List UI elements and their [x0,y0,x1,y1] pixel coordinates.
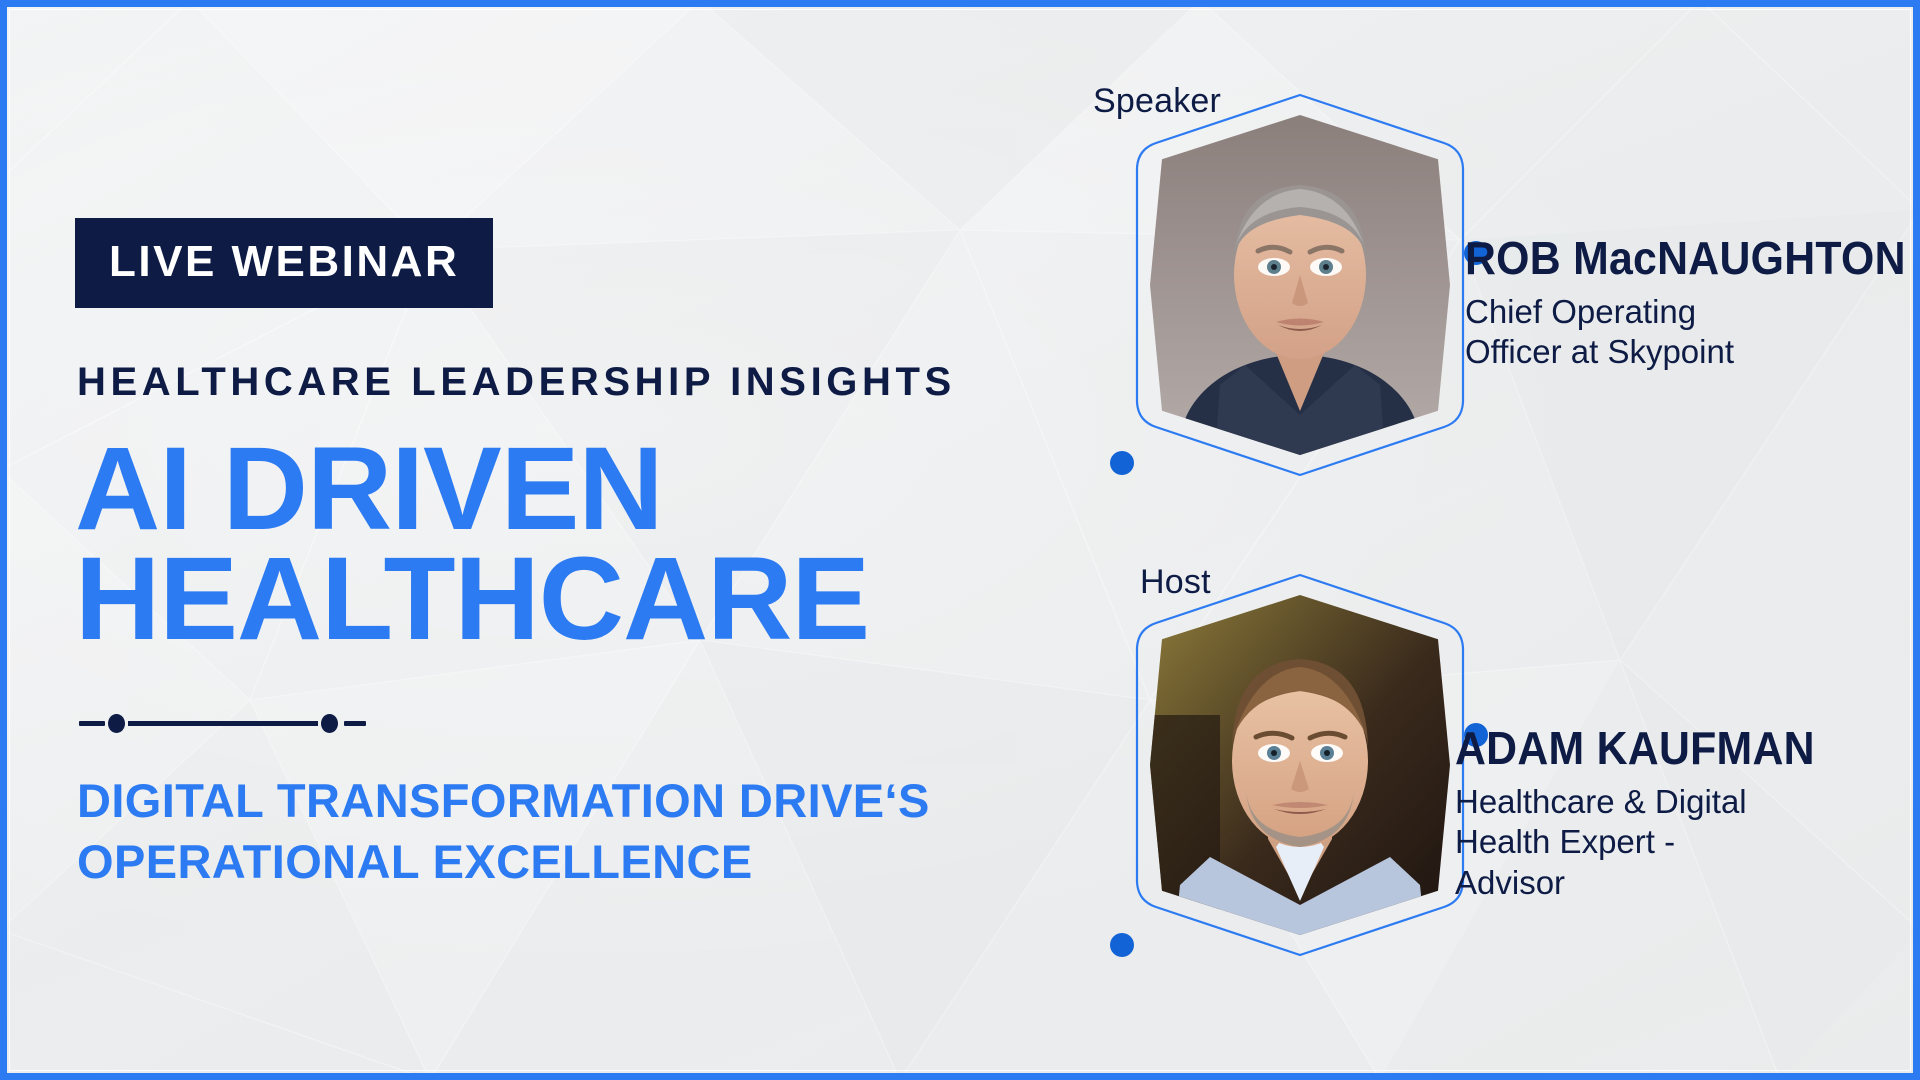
host-title-line-2: Health Expert - [1455,822,1895,862]
left-content-column: LIVE WEBINAR HEALTHCARE LEADERSHIP INSIG… [75,0,935,1080]
speaker-card: Speaker [1040,60,1920,510]
accent-dot-host-bottom [1110,933,1134,957]
tagline-line-1: DIGITAL TRANSFORMATION DRIVE‘S [77,774,930,827]
avatar [1150,595,1450,935]
speaker-title-line-2: Officer at Skypoint [1465,332,1885,372]
divider-dash-right [344,721,366,726]
speaker-title: Chief Operating Officer at Skypoint [1465,292,1885,373]
subtitle: DIGITAL TRANSFORMATION DRIVE‘S OPERATION… [77,770,930,892]
host-card: Host [1040,545,1920,1025]
page-title: AI DRIVEN HEALTHCARE [75,435,869,654]
divider-line [128,721,318,726]
host-photo-hexagon [1150,595,1450,935]
headshot-rob-macnaughton [1150,115,1450,455]
host-title: Healthcare & Digital Health Expert - Adv… [1455,782,1895,903]
avatar [1150,115,1450,455]
headshot-adam-kaufman [1150,595,1450,935]
right-speakers-column: Speaker [1040,0,1920,1080]
decorative-divider [79,712,419,734]
speaker-info: ROB MacNAUGHTON Chief Operating Officer … [1465,235,1885,373]
host-info: ADAM KAUFMAN Healthcare & Digital Health… [1455,725,1895,903]
series-eyebrow: HEALTHCARE LEADERSHIP INSIGHTS [77,360,956,405]
tagline-line-2: OPERATIONAL EXCELLENCE [77,831,930,892]
speaker-title-line-1: Chief Operating [1465,292,1885,332]
host-title-line-3: Advisor [1455,863,1895,903]
divider-dot-right [321,714,338,733]
webinar-banner: LIVE WEBINAR HEALTHCARE LEADERSHIP INSIG… [0,0,1920,1080]
live-webinar-badge: LIVE WEBINAR [75,218,493,308]
headline-line-2: HEALTHCARE [75,545,869,655]
divider-dot-left [108,714,125,733]
speaker-name: ROB MacNAUGHTON [1465,235,1856,281]
divider-dash-left [79,721,105,726]
accent-dot-speaker-bottom [1110,451,1134,475]
host-title-line-1: Healthcare & Digital [1455,782,1895,822]
host-name: ADAM KAUFMAN [1455,725,1864,771]
speaker-photo-hexagon [1150,115,1450,455]
